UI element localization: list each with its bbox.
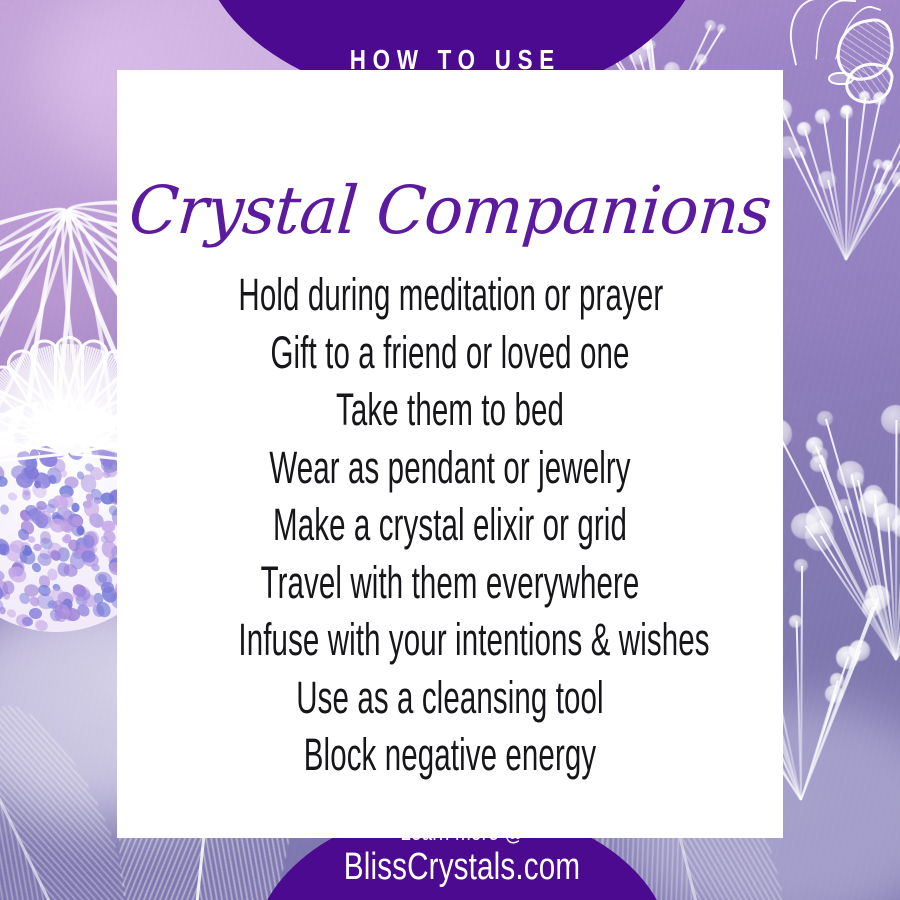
- content-card: Crystal Companions Hold during meditatio…: [117, 70, 783, 838]
- usage-list-item: Wear as pendant or jewelry: [238, 439, 661, 497]
- usage-list-item: Take them to bed: [238, 381, 661, 439]
- usage-list-item: Use as a cleansing tool: [238, 669, 661, 727]
- usage-list-item: Make a crystal elixir or grid: [238, 496, 661, 554]
- page-title: Crystal Companions: [124, 178, 776, 244]
- usage-list-item: Block negative energy: [238, 726, 661, 784]
- usage-list-item: Travel with them everywhere: [238, 554, 661, 612]
- usage-list-item: Gift to a friend or loved one: [238, 324, 661, 382]
- usage-list-item: Infuse with your intentions & wishes: [238, 611, 661, 669]
- usage-list: Hold during meditation or prayerGift to …: [127, 266, 773, 784]
- usage-list-item: Hold during meditation or prayer: [238, 266, 661, 324]
- poster-canvas: HOW TO USE Learn more @ BlissCrystals.co…: [0, 0, 900, 900]
- website-link[interactable]: BlissCrystals.com: [298, 846, 626, 889]
